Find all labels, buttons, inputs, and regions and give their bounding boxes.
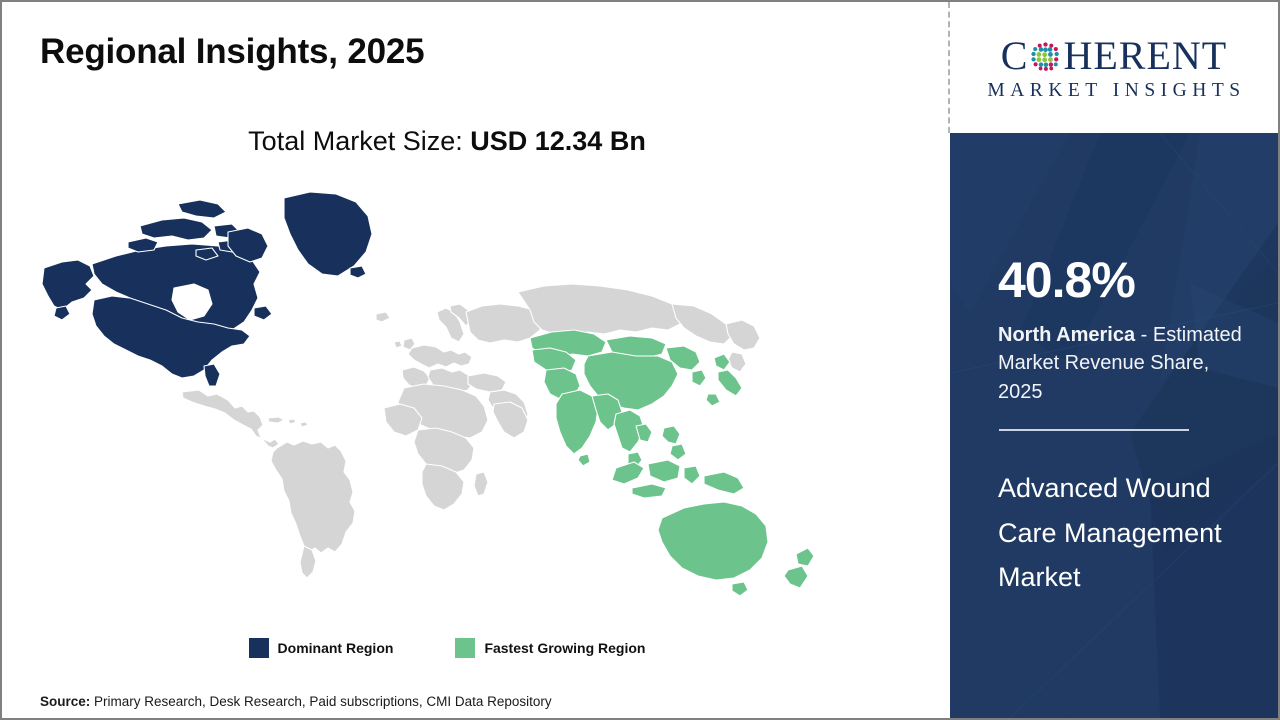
map-legend: Dominant Region Fastest Growing Region <box>2 638 892 658</box>
market-size-value: USD 12.34 Bn <box>470 126 646 156</box>
panel-divider-rule <box>999 429 1189 431</box>
source-text: Primary Research, Desk Research, Paid su… <box>90 694 551 709</box>
total-market-size: Total Market Size: USD 12.34 Bn <box>2 126 892 157</box>
legend-swatch-fastest-growing <box>455 638 475 658</box>
logo-tagline: MARKET INSIGHTS <box>982 80 1245 102</box>
market-share-description: North America - Estimated Market Revenue… <box>998 321 1256 406</box>
market-name: Advanced Wound Care Management Market <box>998 466 1253 600</box>
legend-label-fastest-growing: Fastest Growing Region <box>484 640 645 656</box>
map-region-dominant <box>42 192 372 386</box>
regional-insights-slide: Regional Insights, 2025 Total Market Siz… <box>0 0 1280 720</box>
logo-wordmark: C <box>1001 34 1227 78</box>
source-note: Source: Primary Research, Desk Research,… <box>40 694 552 709</box>
market-share-value: 40.8% <box>998 255 1135 305</box>
brand-logo: C <box>950 2 1278 133</box>
panel-body: 40.8% North America - Estimated Market R… <box>950 133 1278 718</box>
globe-dots-icon <box>1029 40 1062 73</box>
world-map-svg <box>32 180 832 620</box>
legend-item-dominant: Dominant Region <box>249 638 394 658</box>
legend-swatch-dominant <box>249 638 269 658</box>
source-label: Source: <box>40 694 90 709</box>
region-name: North America <box>998 324 1135 346</box>
world-map <box>32 180 832 620</box>
main-content-area: Regional Insights, 2025 Total Market Siz… <box>2 2 950 718</box>
logo-word-part-2: HERENT <box>1063 36 1227 76</box>
map-region-fastest-growing <box>530 330 814 596</box>
panel-content: 40.8% North America - Estimated Market R… <box>998 133 1260 718</box>
market-size-label: Total Market Size: <box>248 126 470 156</box>
right-panel: C <box>950 2 1278 718</box>
legend-label-dominant: Dominant Region <box>278 640 394 656</box>
logo-word-part-1: C <box>1001 36 1029 76</box>
page-title: Regional Insights, 2025 <box>40 32 424 72</box>
legend-item-fastest-growing: Fastest Growing Region <box>455 638 645 658</box>
